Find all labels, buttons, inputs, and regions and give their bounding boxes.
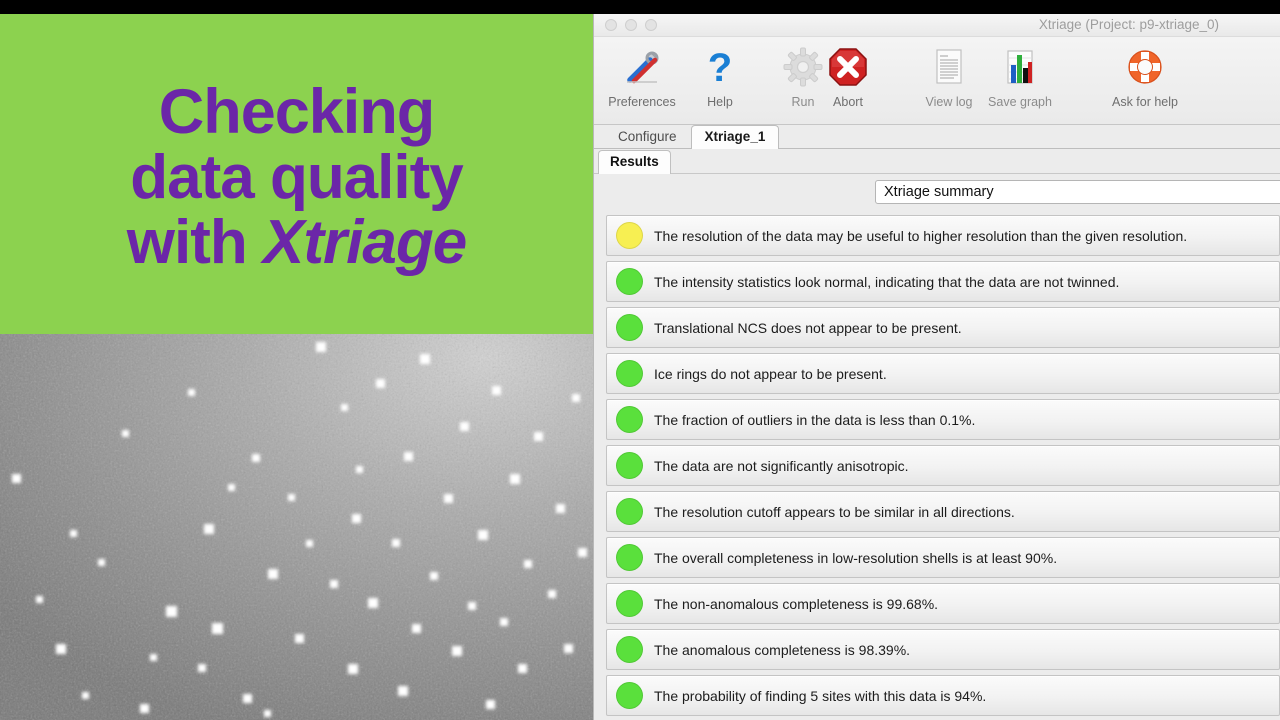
status-indicator-green xyxy=(616,452,643,479)
stop-x-icon xyxy=(824,43,872,91)
result-row[interactable]: The resolution of the data may be useful… xyxy=(606,215,1280,256)
title-italic-word: Xtriage xyxy=(263,208,466,277)
result-row[interactable]: The intensity statistics look normal, in… xyxy=(606,261,1280,302)
status-indicator-green xyxy=(616,498,643,525)
results-list: The resolution of the data may be useful… xyxy=(594,210,1280,717)
slide-title-card: Checking data quality with Xtriage xyxy=(0,14,593,334)
status-indicator-green xyxy=(616,360,643,387)
toolbar-label-save-graph: Save graph xyxy=(988,95,1052,109)
toolbar-button-help[interactable]: ? Help xyxy=(674,43,766,109)
xtriage-summary-select[interactable]: Xtriage summary xyxy=(875,180,1280,204)
life-ring-icon xyxy=(1121,43,1169,91)
screenshot-stage: Checking data quality with Xtriage xyxy=(0,0,1280,720)
result-text: The probability of finding 5 sites with … xyxy=(654,688,986,704)
title-line-3-text: with xyxy=(127,208,263,277)
status-indicator-green xyxy=(616,268,643,295)
status-indicator-green xyxy=(616,636,643,663)
title-line-2: data quality xyxy=(130,146,463,209)
window-controls[interactable] xyxy=(605,19,657,31)
bar-chart-icon xyxy=(996,43,1044,91)
tab-results[interactable]: Results xyxy=(598,150,671,174)
toolbar-label-ask-for-help: Ask for help xyxy=(1112,95,1178,109)
title-line-1: Checking xyxy=(159,80,435,144)
result-row[interactable]: The anomalous completeness is 98.39%. xyxy=(606,629,1280,670)
status-indicator-green xyxy=(616,544,643,571)
title-line-3: with Xtriage xyxy=(127,211,466,274)
status-indicator-yellow xyxy=(616,222,643,249)
result-text: Translational NCS does not appear to be … xyxy=(654,320,962,336)
xtriage-window: Xtriage (Project: p9-xtriage_0) Preferen… xyxy=(593,14,1280,720)
result-text: The data are not significantly anisotrop… xyxy=(654,458,908,474)
diffraction-image xyxy=(0,334,593,720)
status-indicator-green xyxy=(616,590,643,617)
tab-configure[interactable]: Configure xyxy=(604,125,691,149)
result-row[interactable]: The non-anomalous completeness is 99.68%… xyxy=(606,583,1280,624)
result-text: The resolution of the data may be useful… xyxy=(654,228,1187,244)
window-title: Xtriage (Project: p9-xtriage_0) xyxy=(1039,17,1219,32)
result-row[interactable]: The resolution cutoff appears to be simi… xyxy=(606,491,1280,532)
result-row[interactable]: Ice rings do not appear to be present. xyxy=(606,353,1280,394)
result-row[interactable]: The probability of finding 5 sites with … xyxy=(606,675,1280,716)
toolbar-button-ask-for-help[interactable]: Ask for help xyxy=(1099,43,1191,109)
result-text: The overall completeness in low-resoluti… xyxy=(654,550,1057,566)
status-indicator-green xyxy=(616,406,643,433)
document-icon xyxy=(925,43,973,91)
zoom-button[interactable] xyxy=(645,19,657,31)
toolbar-button-save-graph[interactable]: Save graph xyxy=(974,43,1066,109)
result-row[interactable]: The overall completeness in low-resoluti… xyxy=(606,537,1280,578)
toolbar-button-abort[interactable]: Abort xyxy=(802,43,894,109)
primary-tabstrip: Configure Xtriage_1 xyxy=(594,125,1280,149)
tab-xtriage-1[interactable]: Xtriage_1 xyxy=(691,125,780,149)
result-text: The anomalous completeness is 98.39%. xyxy=(654,642,910,658)
toolbar-label-help: Help xyxy=(707,95,733,109)
summary-select-row: Xtriage summary xyxy=(594,174,1280,210)
result-text: The fraction of outliers in the data is … xyxy=(654,412,975,428)
status-indicator-green xyxy=(616,682,643,709)
result-row[interactable]: The fraction of outliers in the data is … xyxy=(606,399,1280,440)
result-text: The non-anomalous completeness is 99.68%… xyxy=(654,596,938,612)
tools-icon xyxy=(618,43,666,91)
result-row[interactable]: The data are not significantly anisotrop… xyxy=(606,445,1280,486)
toolbar-label-view-log: View log xyxy=(925,95,972,109)
status-indicator-green xyxy=(616,314,643,341)
question-mark-icon: ? xyxy=(696,43,744,91)
slide-panel: Checking data quality with Xtriage xyxy=(0,14,593,720)
result-text: The intensity statistics look normal, in… xyxy=(654,274,1119,290)
result-row[interactable]: Translational NCS does not appear to be … xyxy=(606,307,1280,348)
close-button[interactable] xyxy=(605,19,617,31)
result-text: Ice rings do not appear to be present. xyxy=(654,366,887,382)
svg-text:?: ? xyxy=(708,46,732,89)
toolbar-label-preferences: Preferences xyxy=(608,95,675,109)
xtriage-summary-select-value: Xtriage summary xyxy=(884,184,994,200)
result-text: The resolution cutoff appears to be simi… xyxy=(654,504,1015,520)
toolbar-label-abort: Abort xyxy=(833,95,863,109)
minimize-button[interactable] xyxy=(625,19,637,31)
toolbar: Preferences ? Help xyxy=(594,37,1280,125)
window-titlebar: Xtriage (Project: p9-xtriage_0) xyxy=(594,14,1280,37)
secondary-tabstrip: Results xyxy=(594,149,1280,174)
